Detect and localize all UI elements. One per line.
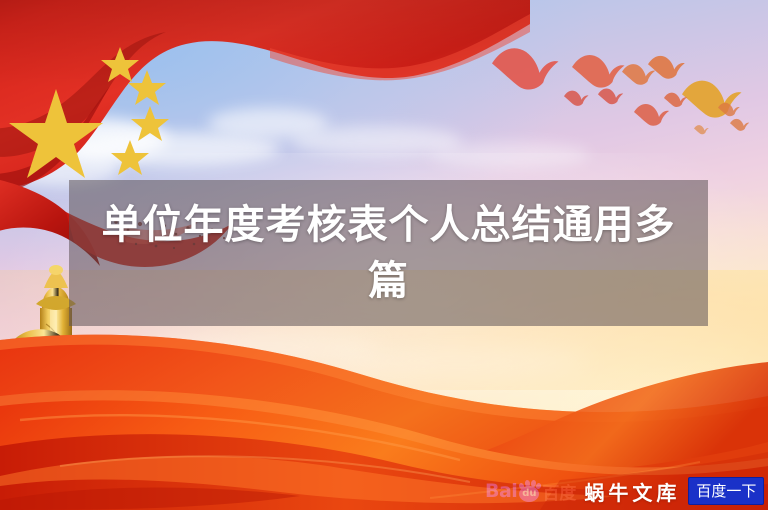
baidu-paw-icon: du <box>518 480 540 502</box>
baidu-paw-label: du <box>519 488 539 500</box>
baidu-logo-chinese: 百度 <box>542 479 576 504</box>
watermark-bar: Bai du 百度 蜗牛文库 百度一下 <box>485 476 764 506</box>
title-overlay-card: 单位年度考核表个人总结通用多篇 <box>69 180 708 326</box>
baidu-logo: Bai du 百度 <box>485 479 576 504</box>
site-name-watermark: 蜗牛文库 <box>584 477 680 506</box>
banner-image: 单位年度考核表个人总结通用多篇 Bai du 百度 蜗牛文库 百度一下 <box>0 0 768 510</box>
baidu-search-button[interactable]: 百度一下 <box>688 477 764 505</box>
baidu-logo-latin: Bai <box>485 480 517 502</box>
page-title: 单位年度考核表个人总结通用多篇 <box>95 197 682 309</box>
